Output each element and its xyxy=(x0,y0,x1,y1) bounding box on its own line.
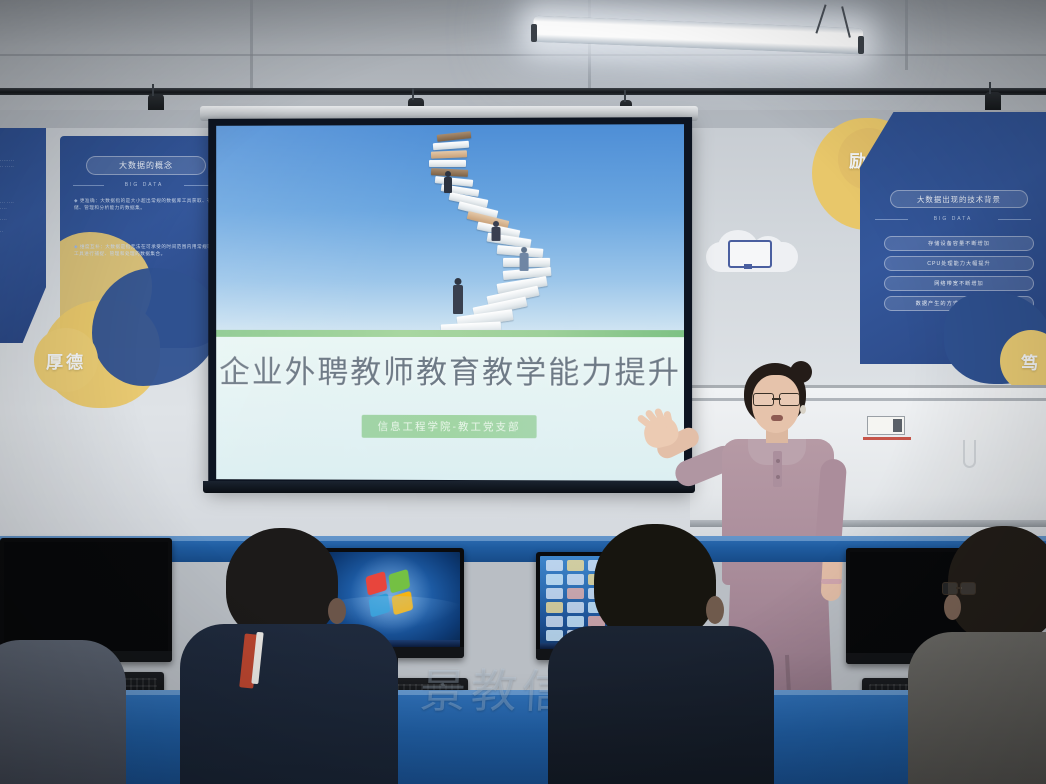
presenter-placket xyxy=(773,451,782,487)
wall-hook xyxy=(963,440,976,468)
slide-figure xyxy=(491,221,501,241)
slide-step xyxy=(431,150,467,158)
ceiling-seam xyxy=(905,0,908,70)
ceiling-seam xyxy=(0,54,1046,56)
desk-edge xyxy=(0,690,1046,695)
poster-heading: 大数据出现的技术背景 xyxy=(890,190,1028,208)
student-shoulders xyxy=(180,624,398,784)
student-shoulders xyxy=(0,640,126,784)
slide-figure xyxy=(443,171,453,193)
light-bracket xyxy=(858,36,864,54)
presenter-hair-bun xyxy=(790,361,812,383)
poster-heading: 大数据的概念 xyxy=(86,156,206,175)
projection-screen: 企业外聘教师教育教学能力提升 信息工程学院-教工党支部 xyxy=(208,117,692,490)
student-front-left xyxy=(196,528,382,784)
desk-row-front xyxy=(0,690,1046,784)
poster-bullet-2: ◆ 维度互补：大数据是指无法在可承受的时间范围内用常规软件工具进行捕捉、管理和处… xyxy=(74,244,218,257)
slide-surface: 企业外聘教师教育教学能力提升 信息工程学院-教工党支部 xyxy=(216,124,684,481)
wall-circle-word-houde: 厚德 xyxy=(34,328,98,392)
presenter-bracelet xyxy=(821,579,842,584)
student-shoulders xyxy=(908,632,1046,784)
student-front-right xyxy=(918,520,1046,784)
poster-text: ············ ····· xyxy=(0,158,46,170)
slide-step xyxy=(429,160,466,167)
poster-subheading: BIG DATA xyxy=(860,216,1046,222)
slide-clouds xyxy=(216,247,684,319)
poster-pill-2: CPU处理能力大幅提升 xyxy=(884,256,1034,271)
ceiling-seam xyxy=(250,0,253,90)
wall-red-line xyxy=(863,437,911,440)
student-ear xyxy=(706,596,724,624)
ceiling-seam xyxy=(588,0,591,88)
cloud-monitor-icon xyxy=(706,228,798,274)
student-front-far-left xyxy=(0,620,120,784)
slide-subtitle: 信息工程学院-教工党支部 xyxy=(362,415,537,438)
glasses-icon xyxy=(942,582,976,592)
wall-sign xyxy=(867,416,905,435)
presenter-mouth xyxy=(771,415,783,421)
projection-screen-weight-bar xyxy=(203,481,695,493)
poster-subheading: BIG DATA xyxy=(60,182,228,188)
poster-pill-1: 存储设备容量不断增加 xyxy=(884,236,1034,251)
slide-step xyxy=(433,141,469,151)
light-bracket xyxy=(531,24,537,42)
poster-bullet-1: ◆ 更准确：大数据指的是大小超出常规的数据库工具获取、存储、管理和分析能力的数据… xyxy=(74,198,218,211)
student-ear xyxy=(328,598,346,624)
student-front-center xyxy=(566,524,758,784)
poster-pill-3: 网络带宽不断增加 xyxy=(884,276,1034,291)
slide-figure xyxy=(452,278,464,314)
presenter-earring xyxy=(800,405,806,414)
student-head xyxy=(594,524,716,642)
classroom-photo: ············ ····· ···· ················… xyxy=(0,0,1046,784)
glasses-icon xyxy=(753,393,800,404)
slide-figure xyxy=(519,247,529,271)
poster-text: ···· ················· xyxy=(0,200,46,235)
slide-title: 企业外聘教师教育教学能力提升 xyxy=(216,347,684,393)
student-ear xyxy=(944,594,961,620)
student-shoulders xyxy=(548,626,774,784)
